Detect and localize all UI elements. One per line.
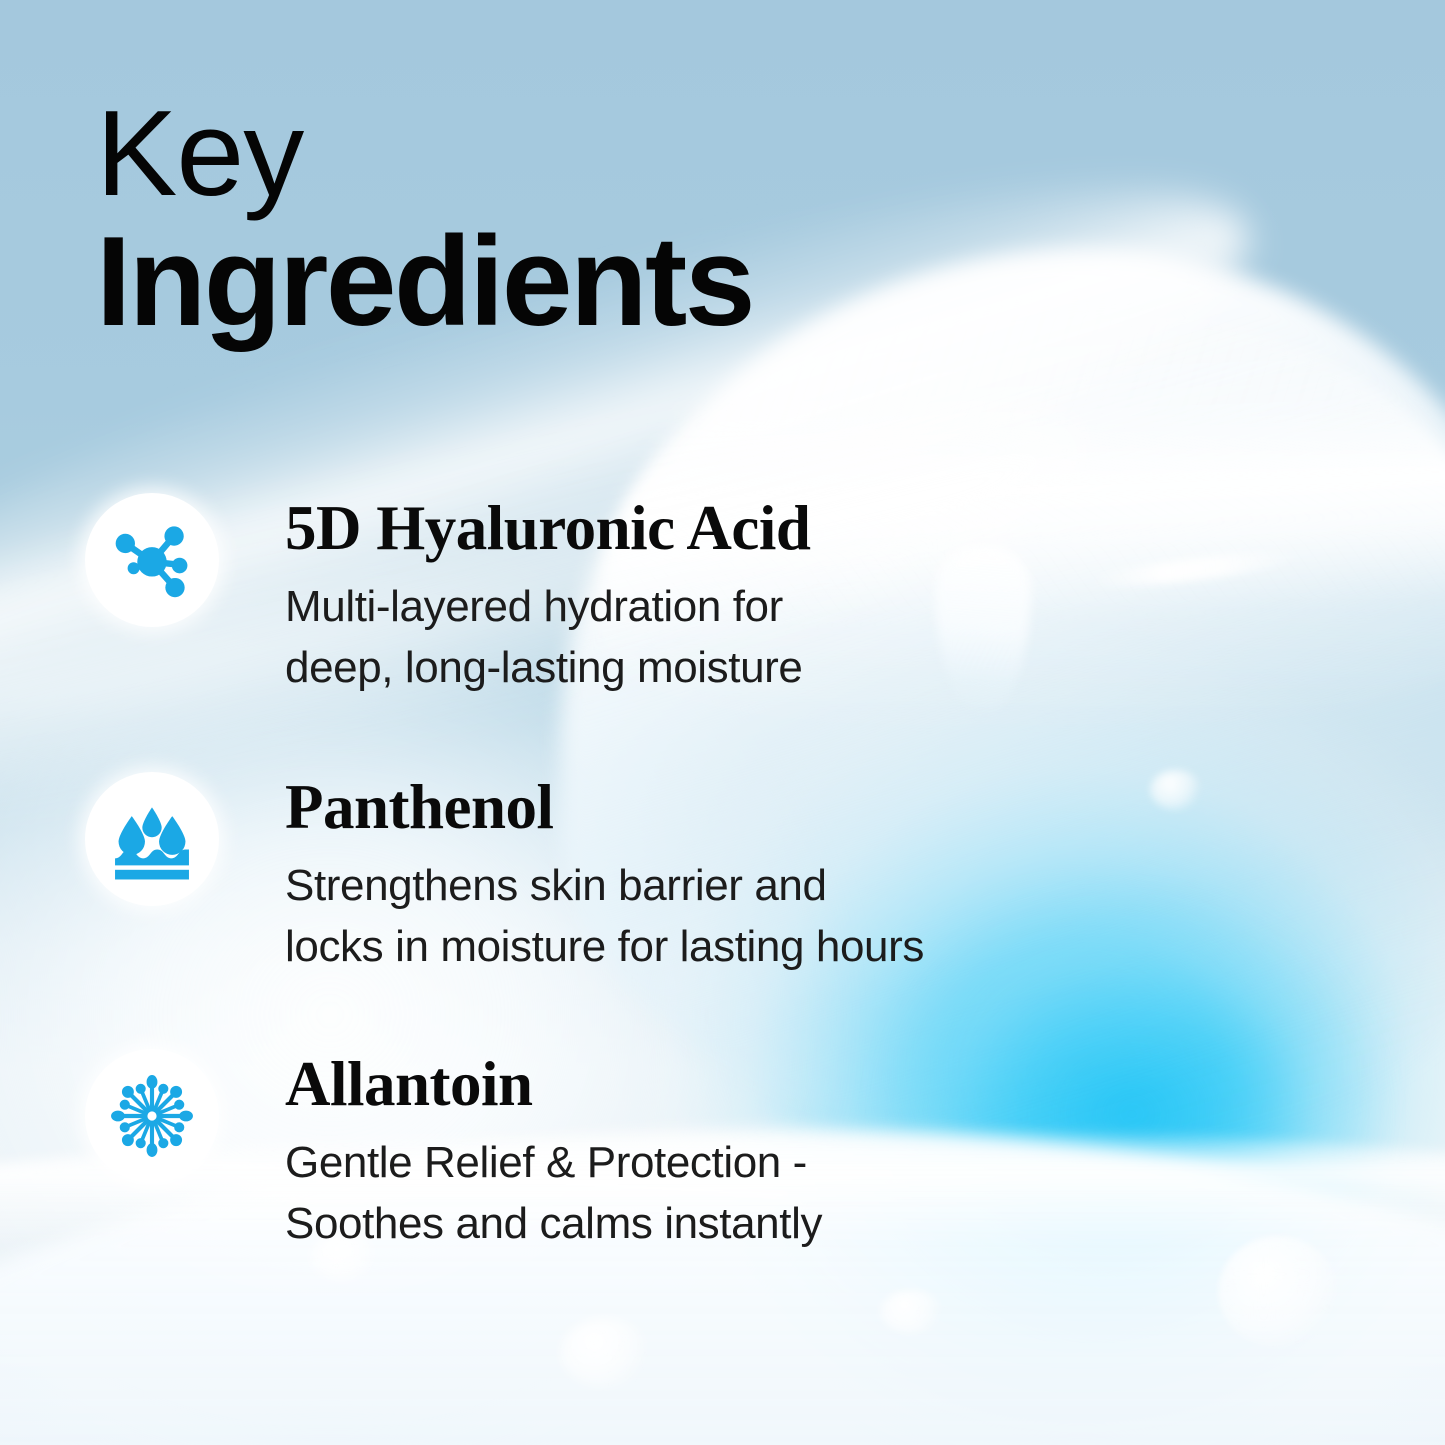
molecule-icon [106,514,198,606]
ingredient-description: Gentle Relief & Protection - Soothes and… [285,1132,822,1255]
ingredient-text: Allantoin Gentle Relief & Protection - S… [285,1049,822,1255]
ingredient-name: Panthenol [285,774,924,841]
ingredient-item-panthenol: Panthenol Strengthens skin barrier and l… [85,772,924,978]
ingredient-text: 5D Hyaluronic Acid Multi-layered hydrati… [285,493,810,699]
ingredient-icon-badge [85,493,219,627]
ingredient-name: 5D Hyaluronic Acid [285,495,810,562]
page-title-line-2: Ingredients [96,218,753,345]
ingredient-item-allantoin: Allantoin Gentle Relief & Protection - S… [85,1049,822,1255]
water-droplets-waves-icon [108,795,196,883]
ingredient-description: Strengthens skin barrier and locks in mo… [285,855,924,978]
key-ingredients-poster: Key Ingredients [0,0,1445,1445]
ingredient-item-hyaluronic-acid: 5D Hyaluronic Acid Multi-layered hydrati… [85,493,810,699]
radial-burst-snowflake-icon [106,1070,198,1162]
ingredient-icon-badge [85,772,219,906]
page-title: Key Ingredients [96,92,753,345]
ingredient-text: Panthenol Strengthens skin barrier and l… [285,772,924,978]
page-title-line-1: Key [96,92,753,214]
ingredient-icon-badge [85,1049,219,1183]
ingredient-description: Multi-layered hydration for deep, long-l… [285,576,810,699]
ingredient-name: Allantoin [285,1051,822,1118]
